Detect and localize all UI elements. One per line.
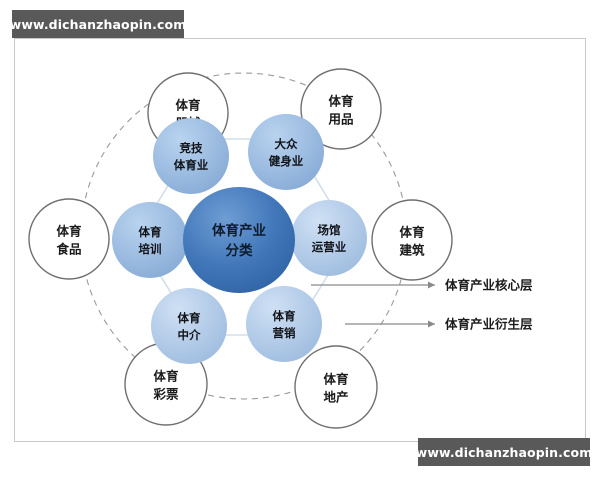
inner-node-sports-intermediary[interactable]: 体育 中介 (151, 288, 227, 364)
inner-node-label-line1: 场馆 (318, 223, 341, 237)
inner-node-label-line1: 竞技 (180, 141, 203, 155)
outer-node-label-line1: 体育 (328, 94, 354, 109)
outer-node-label-line2: 建筑 (399, 243, 425, 258)
legend-label-derivative-layer: 体育产业衍生层 (445, 317, 533, 332)
outer-node-sports-architecture[interactable]: 体育 建筑 (372, 200, 452, 280)
inner-node-label-line2: 中介 (178, 328, 201, 342)
outer-node-label-line2: 用品 (327, 112, 353, 127)
outer-node-label-line1: 体育 (399, 225, 425, 240)
inner-node-label-line2: 健身业 (269, 154, 304, 168)
outer-node-label-line1: 体育 (323, 372, 349, 387)
inner-node-sports-training[interactable]: 体育 培训 (112, 202, 188, 278)
diagram-canvas: 体育 器械 体育 用品 体育 建筑 体育 地产 体育 彩票 体育 食品 (15, 39, 587, 443)
outer-node-label-line2: 彩票 (152, 387, 179, 402)
outer-node-sports-real-estate[interactable]: 体育 地产 (295, 346, 377, 428)
watermark-bottom: www.dichanzhaopin.com (418, 438, 590, 466)
legend-label-core-layer: 体育产业核心层 (445, 278, 533, 293)
inner-node-label-line2: 体育业 (174, 158, 209, 172)
outer-node-label-line1: 体育 (56, 224, 82, 239)
inner-node-label-line1: 体育 (178, 311, 201, 325)
outer-node-label-line1: 体育 (175, 98, 201, 113)
inner-node-label-line2: 运营业 (312, 240, 347, 254)
core-node-label-line1: 体育产业 (212, 222, 266, 239)
outer-node-sports-food[interactable]: 体育 食品 (29, 199, 109, 279)
inner-node-label-line1: 体育 (273, 309, 296, 323)
outer-node-label-line2: 食品 (55, 242, 81, 257)
core-node-sports-industry-classification[interactable]: 体育产业 分类 (183, 187, 295, 293)
watermark-top: www.dichanzhaopin.com (12, 10, 184, 38)
outer-node-label-line1: 体育 (153, 369, 179, 384)
inner-node-competitive-sports[interactable]: 竞技 体育业 (153, 118, 229, 194)
core-node-label-line2: 分类 (226, 242, 253, 259)
inner-node-mass-fitness[interactable]: 大众 健身业 (248, 114, 324, 190)
diagram-frame: 体育 器械 体育 用品 体育 建筑 体育 地产 体育 彩票 体育 食品 (14, 38, 586, 442)
inner-node-sports-marketing[interactable]: 体育 营销 (246, 286, 322, 362)
inner-node-label-line1: 大众 (275, 137, 298, 151)
inner-node-label-line1: 体育 (139, 225, 162, 239)
inner-node-venue-operations[interactable]: 场馆 运营业 (291, 200, 367, 276)
outer-node-label-line2: 地产 (323, 390, 348, 405)
inner-node-label-line2: 培训 (139, 242, 162, 256)
inner-node-label-line2: 营销 (273, 326, 296, 340)
